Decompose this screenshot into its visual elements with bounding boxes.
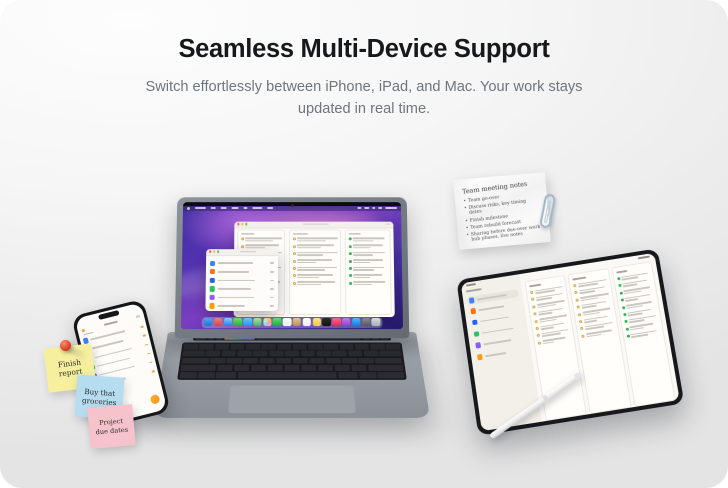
- facetime-icon[interactable]: [273, 318, 281, 326]
- sticky-note-project-due-dates[interactable]: Project due dates: [87, 404, 135, 449]
- maximize-icon[interactable]: [217, 251, 219, 253]
- ipad-frame: [456, 248, 684, 435]
- macos-desktop: [181, 206, 403, 330]
- board-column-done[interactable]: [345, 229, 392, 314]
- status-time: [466, 283, 476, 286]
- ipad-pro: [456, 248, 684, 435]
- menu-view[interactable]: [232, 207, 239, 209]
- menu-help[interactable]: [267, 207, 273, 209]
- status-battery: [638, 256, 650, 259]
- appstore-icon[interactable]: [352, 318, 361, 326]
- menu-finder[interactable]: [195, 207, 206, 209]
- menu-window[interactable]: [252, 207, 262, 209]
- window-titlebar[interactable]: [234, 221, 393, 228]
- maps-icon[interactable]: [253, 318, 262, 326]
- system-settings-icon[interactable]: [362, 318, 371, 326]
- paper-note: Team meeting notes Team go-over Discuss …: [453, 172, 551, 250]
- hero-section: Seamless Multi-Device Support Switch eff…: [0, 0, 728, 488]
- tv-icon[interactable]: [322, 318, 331, 326]
- calendar-icon[interactable]: [283, 318, 291, 326]
- battery-icon[interactable]: [364, 207, 369, 209]
- menu-go[interactable]: [243, 207, 247, 209]
- header: Seamless Multi-Device Support Switch eff…: [0, 34, 728, 120]
- mail-icon[interactable]: [243, 318, 252, 326]
- list-item[interactable]: [209, 303, 273, 308]
- back-icon: [81, 329, 85, 333]
- macos-dock[interactable]: [202, 317, 382, 328]
- maximize-icon[interactable]: [245, 223, 247, 225]
- list-item[interactable]: [210, 269, 274, 274]
- add-icon[interactable]: [150, 394, 161, 405]
- page-subtitle: Switch effortlessly between iPhone, iPad…: [127, 76, 601, 120]
- ipad-screen: [461, 253, 680, 431]
- podcasts-icon[interactable]: [342, 318, 351, 326]
- trackpad[interactable]: [228, 384, 356, 413]
- finder-icon[interactable]: [204, 318, 213, 326]
- reminders-icon[interactable]: [303, 318, 311, 326]
- webcam-icon: [291, 204, 294, 207]
- control-center-icon[interactable]: [378, 207, 382, 209]
- apple-logo-icon[interactable]: [187, 207, 190, 210]
- contacts-icon[interactable]: [293, 318, 301, 326]
- list-item[interactable]: [210, 286, 274, 291]
- safari-icon[interactable]: [224, 318, 233, 326]
- pushpin-icon: [60, 340, 71, 351]
- search-icon[interactable]: [372, 207, 375, 209]
- tasks-list-window[interactable]: [205, 249, 278, 311]
- list-item[interactable]: [210, 261, 274, 266]
- laptop-screen: [181, 202, 403, 329]
- menu-file[interactable]: [211, 207, 216, 209]
- notes-icon[interactable]: [312, 318, 320, 326]
- wifi-icon[interactable]: [357, 207, 361, 209]
- close-icon[interactable]: [209, 251, 211, 253]
- list-item[interactable]: [210, 295, 274, 300]
- paper-sheet: Team meeting notes Team go-over Discuss …: [453, 172, 551, 250]
- macbook-pro: [168, 196, 416, 464]
- messages-icon[interactable]: [233, 318, 242, 326]
- laptop-base: [154, 332, 430, 418]
- trash-icon[interactable]: [372, 318, 381, 326]
- minimize-icon[interactable]: [213, 251, 215, 253]
- window-titlebar[interactable]: [206, 249, 278, 256]
- more-icon: [136, 315, 140, 318]
- sidebar-title: [466, 288, 482, 292]
- board-column-doing[interactable]: [289, 229, 341, 314]
- keyboard[interactable]: [177, 342, 407, 379]
- close-icon[interactable]: [237, 223, 239, 225]
- minimize-icon[interactable]: [241, 223, 243, 225]
- menubar-clock: [385, 207, 397, 209]
- list-item[interactable]: [210, 278, 274, 283]
- photos-icon[interactable]: [263, 318, 271, 326]
- laptop-lid: [175, 197, 410, 338]
- menu-edit[interactable]: [221, 207, 227, 209]
- launchpad-icon[interactable]: [214, 318, 223, 326]
- music-icon[interactable]: [332, 318, 341, 326]
- page-title: Seamless Multi-Device Support: [0, 34, 728, 65]
